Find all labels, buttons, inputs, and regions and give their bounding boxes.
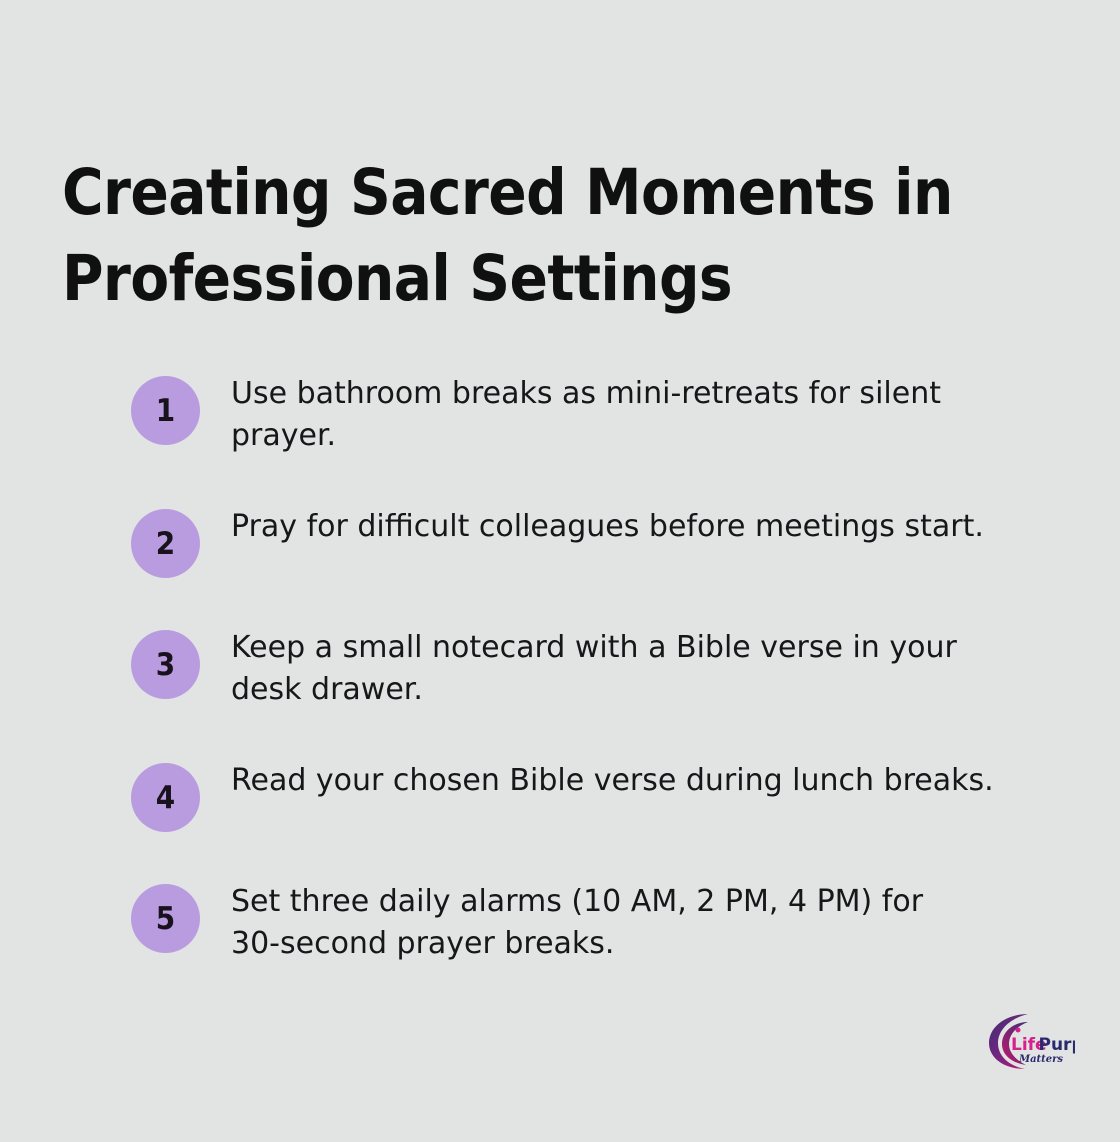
step-text: Read your chosen Bible verse during lunc… [231,757,1021,802]
logo-word-matters: Matters [1018,1054,1063,1065]
step-text: Use bathroom breaks as mini-retreats for… [231,370,961,457]
logo-word-purpose: Purpose [1039,1035,1076,1055]
step-number-badge: 2 [131,509,200,578]
step-text: Pray for difficult colleagues before mee… [231,503,1021,548]
step-number-badge: 3 [131,630,200,699]
list-item: 2 Pray for difficult colleagues before m… [131,503,1051,578]
steps-list: 1 Use bathroom breaks as mini-retreats f… [131,370,1051,965]
list-item: 1 Use bathroom breaks as mini-retreats f… [131,370,1051,457]
logo-dot-accent [1016,1028,1021,1033]
list-item: 4 Read your chosen Bible verse during lu… [131,757,1051,832]
lifepurpose-matters-logo: Life Purpose Matters [980,1010,1075,1072]
infographic-root: Creating Sacred Moments in Professional … [0,0,1120,1142]
step-number-badge: 5 [131,884,200,953]
step-text: Set three daily alarms (10 AM, 2 PM, 4 P… [231,878,979,965]
list-item: 5 Set three daily alarms (10 AM, 2 PM, 4… [131,878,1051,965]
step-number-badge: 4 [131,763,200,832]
step-number-badge: 1 [131,376,200,445]
page-title: Creating Sacred Moments in Professional … [62,150,992,322]
step-text: Keep a small notecard with a Bible verse… [231,624,1031,711]
list-item: 3 Keep a small notecard with a Bible ver… [131,624,1051,711]
